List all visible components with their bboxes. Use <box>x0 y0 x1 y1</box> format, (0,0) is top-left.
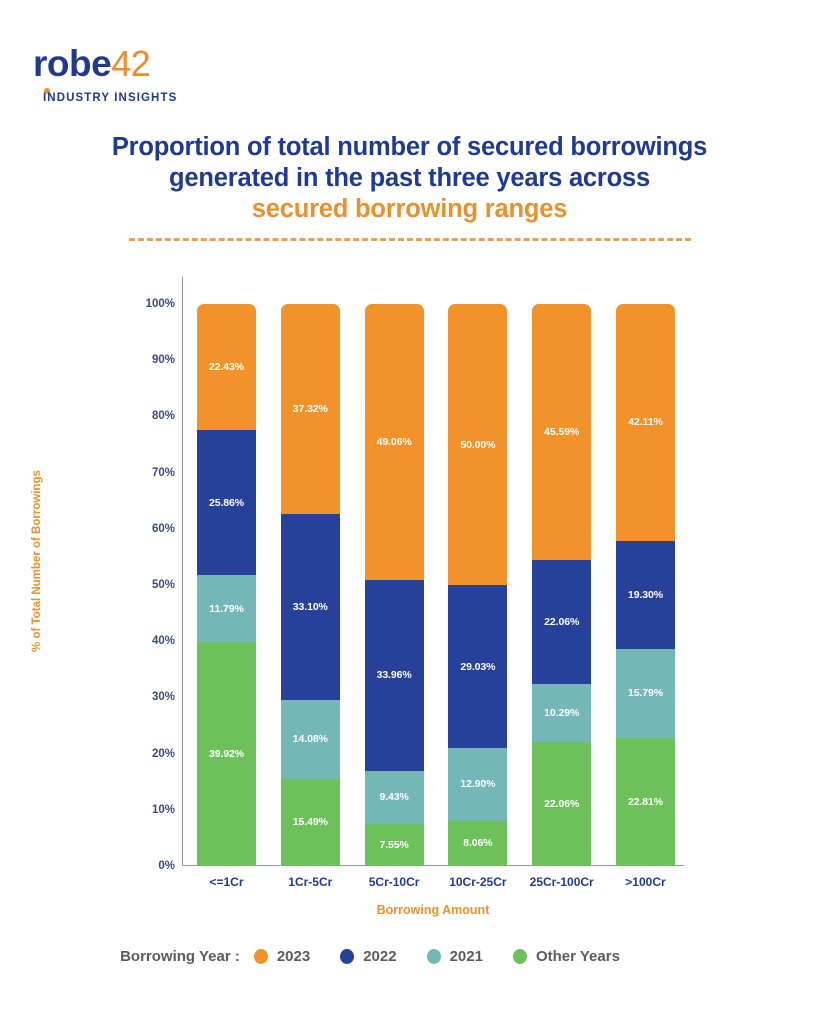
bar-segment[interactable]: 15.49% <box>281 779 340 866</box>
bar-column[interactable]: 49.06%33.96%9.43%7.55%5Cr-10Cr <box>365 304 424 866</box>
bar-segment[interactable]: 22.06% <box>532 742 591 866</box>
bar-segment-label: 29.03% <box>460 661 495 673</box>
bar-column[interactable]: 42.11%19.30%15.79%22.81%>100Cr <box>616 304 675 866</box>
bar-segment-label: 8.06% <box>463 837 492 849</box>
x-axis-tick: 1Cr-5Cr <box>288 875 332 889</box>
y-axis-tick: 30% <box>152 691 175 703</box>
legend-label: Other Years <box>536 948 620 965</box>
bar-segment[interactable]: 42.11% <box>616 304 675 541</box>
bar-segment-label: 50.00% <box>460 439 495 451</box>
bar-stack: 37.32%33.10%14.08%15.49% <box>281 304 340 866</box>
stacked-bar-chart: % of Total Number of Borrowings 0%10%20%… <box>0 0 819 1024</box>
legend-items: 202320222021Other Years <box>254 948 620 965</box>
y-axis-tick: 100% <box>146 298 175 310</box>
y-axis-tick: 10% <box>152 804 175 816</box>
x-axis-tick: <=1Cr <box>209 875 243 889</box>
bar-segment-label: 25.86% <box>209 497 244 509</box>
legend-label: 2021 <box>450 948 483 965</box>
bar-segment-label: 14.08% <box>293 733 328 745</box>
bar-segment-label: 19.30% <box>628 589 663 601</box>
y-axis-tick: 70% <box>152 467 175 479</box>
bar-segment-label: 12.90% <box>460 778 495 790</box>
plot-area: 0%10%20%30%40%50%60%70%80%90%100% 22.43%… <box>182 277 684 866</box>
y-axis-tick: 0% <box>158 860 175 872</box>
bar-segment[interactable]: 33.10% <box>281 514 340 700</box>
bar-segment[interactable]: 39.92% <box>197 642 256 866</box>
bar-column[interactable]: 37.32%33.10%14.08%15.49%1Cr-5Cr <box>281 304 340 866</box>
y-axis-tick: 50% <box>152 579 175 591</box>
y-axis-tick: 80% <box>152 410 175 422</box>
bar-segment-label: 33.96% <box>377 669 412 681</box>
bar-segment-label: 45.59% <box>544 426 579 438</box>
bar-segment-label: 9.43% <box>379 791 408 803</box>
bar-segment[interactable]: 9.43% <box>365 771 424 824</box>
x-axis-tick: 10Cr-25Cr <box>449 875 506 889</box>
y-axis-tick: 40% <box>152 635 175 647</box>
legend-label: 2023 <box>277 948 310 965</box>
bar-segment[interactable]: 10.29% <box>532 684 591 742</box>
legend-swatch-icon <box>513 949 527 964</box>
bar-group: 22.43%25.86%11.79%39.92%<=1Cr37.32%33.10… <box>183 304 685 866</box>
bar-stack: 45.59%22.06%10.29%22.06% <box>532 304 591 866</box>
bar-segment-label: 10.29% <box>544 707 579 719</box>
bar-stack: 42.11%19.30%15.79%22.81% <box>616 304 675 866</box>
legend-item[interactable]: 2021 <box>427 948 483 965</box>
bar-segment[interactable]: 12.90% <box>448 748 507 820</box>
y-axis-title: % of Total Number of Borrowings <box>31 461 43 661</box>
y-axis-tick: 20% <box>152 748 175 760</box>
chart-legend: Borrowing Year : 202320222021Other Years <box>0 948 740 965</box>
bar-segment-label: 39.92% <box>209 748 244 760</box>
bar-segment[interactable]: 45.59% <box>532 304 591 560</box>
legend-item[interactable]: Other Years <box>513 948 620 965</box>
bar-segment[interactable]: 8.06% <box>448 821 507 866</box>
legend-item[interactable]: 2022 <box>340 948 396 965</box>
bar-column[interactable]: 45.59%22.06%10.29%22.06%25Cr-100Cr <box>532 304 591 866</box>
x-axis-tick: 5Cr-10Cr <box>369 875 420 889</box>
bar-segment-label: 22.06% <box>544 798 579 810</box>
bar-stack: 22.43%25.86%11.79%39.92% <box>197 304 256 866</box>
y-axis-tick: 90% <box>152 354 175 366</box>
bar-segment[interactable]: 37.32% <box>281 304 340 514</box>
bar-segment-label: 7.55% <box>379 839 408 851</box>
bar-segment[interactable]: 25.86% <box>197 430 256 575</box>
bar-segment-label: 33.10% <box>293 601 328 613</box>
bar-segment[interactable]: 22.81% <box>616 738 675 866</box>
bar-column[interactable]: 50.00%29.03%12.90%8.06%10Cr-25Cr <box>448 304 507 866</box>
bar-segment[interactable]: 11.79% <box>197 575 256 641</box>
bar-segment[interactable]: 33.96% <box>365 580 424 771</box>
bar-segment[interactable]: 22.06% <box>532 560 591 684</box>
bar-column[interactable]: 22.43%25.86%11.79%39.92%<=1Cr <box>197 304 256 866</box>
x-axis-tick: 25Cr-100Cr <box>530 875 594 889</box>
y-axis-tick: 60% <box>152 523 175 535</box>
bar-segment-label: 11.79% <box>209 603 243 615</box>
bar-segment[interactable]: 50.00% <box>448 304 507 585</box>
legend-swatch-icon <box>427 949 441 964</box>
legend-label: 2022 <box>363 948 396 965</box>
legend-item[interactable]: 2023 <box>254 948 310 965</box>
bar-segment-label: 15.79% <box>628 687 663 699</box>
bar-segment-label: 49.06% <box>377 436 412 448</box>
x-axis-tick: >100Cr <box>625 875 665 889</box>
bar-segment-label: 42.11% <box>628 416 662 428</box>
legend-swatch-icon <box>340 949 354 964</box>
bar-segment-label: 22.81% <box>628 796 663 808</box>
legend-swatch-icon <box>254 949 268 964</box>
bar-segment[interactable]: 7.55% <box>365 824 424 866</box>
bar-segment-label: 22.06% <box>544 616 579 628</box>
bar-segment[interactable]: 15.79% <box>616 649 675 738</box>
legend-title: Borrowing Year : <box>120 948 240 965</box>
bar-segment[interactable]: 29.03% <box>448 585 507 748</box>
bar-segment[interactable]: 22.43% <box>197 304 256 430</box>
x-axis-title: Borrowing Amount <box>182 903 684 917</box>
bar-segment-label: 15.49% <box>293 816 328 828</box>
bar-stack: 50.00%29.03%12.90%8.06% <box>448 304 507 866</box>
bar-stack: 49.06%33.96%9.43%7.55% <box>365 304 424 866</box>
bar-segment[interactable]: 14.08% <box>281 700 340 779</box>
bar-segment[interactable]: 19.30% <box>616 541 675 649</box>
infographic-page: robe42 INDUSTRY INSIGHTS Proportion of t… <box>0 0 819 1024</box>
bar-segment-label: 37.32% <box>293 403 328 415</box>
bar-segment[interactable]: 49.06% <box>365 304 424 580</box>
bar-segment-label: 22.43% <box>209 361 244 373</box>
